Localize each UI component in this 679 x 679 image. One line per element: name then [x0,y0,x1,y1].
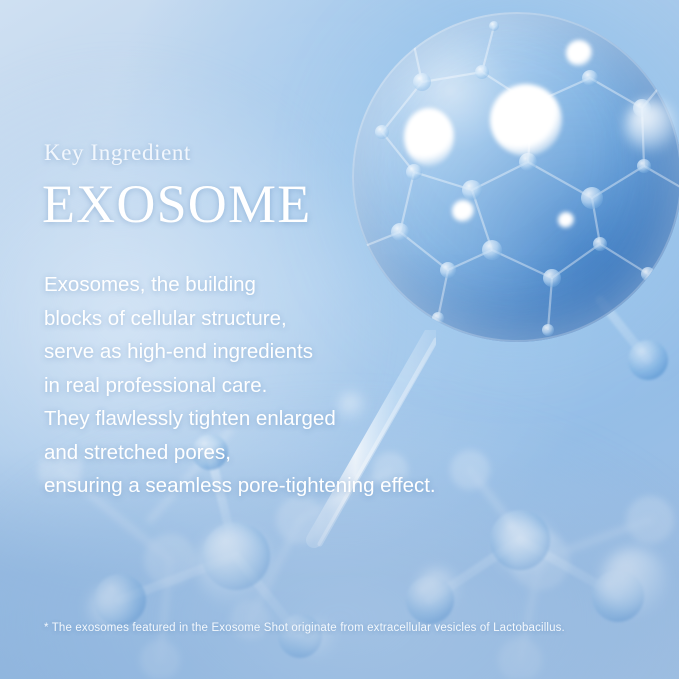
body-line: serve as high-end ingredients [44,335,436,369]
kicker-text: Key Ingredient [44,140,191,166]
body-line: Exosomes, the building [44,268,436,302]
body-line: and stretched pores, [44,436,436,470]
body-copy: Exosomes, the building blocks of cellula… [44,268,436,503]
footnote-text: * The exosomes featured in the Exosome S… [44,622,565,634]
body-line: blocks of cellular structure, [44,302,436,336]
page-title: EXOSOME [42,176,311,233]
body-line: in real professional care. [44,369,436,403]
body-line: ensuring a seamless pore-tightening effe… [44,469,436,503]
marketing-image: Key Ingredient EXOSOME Exosomes, the bui… [0,0,679,679]
body-line: They flawlessly tighten enlarged [44,402,436,436]
